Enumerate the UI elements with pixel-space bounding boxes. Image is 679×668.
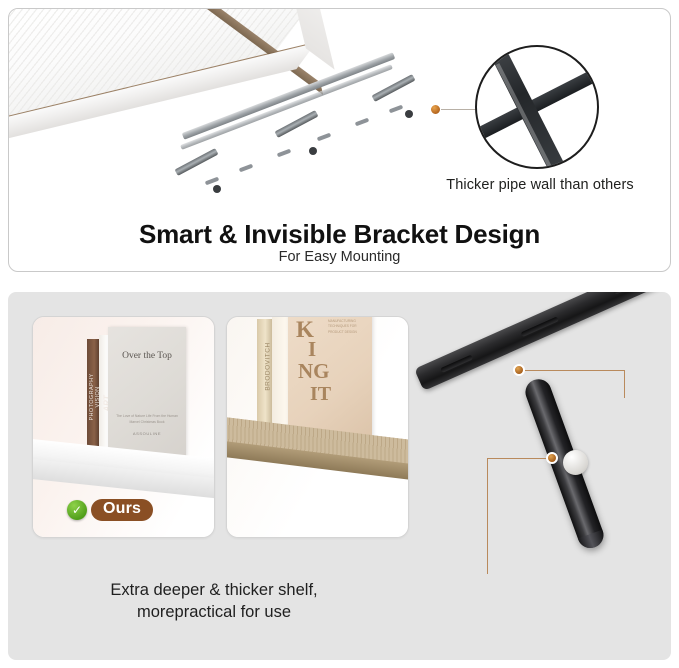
ours-book-brand: ASSOULINE bbox=[108, 431, 186, 436]
bracket-slot bbox=[317, 133, 332, 142]
bracket-flat-slot bbox=[613, 292, 652, 295]
iron-marker-dot-icon bbox=[513, 364, 525, 376]
others-book-title-ng: NG bbox=[298, 359, 330, 384]
bracket-slot bbox=[239, 164, 254, 173]
ours-book-spine-brown: PHOTOGRAPHY VISION bbox=[87, 339, 99, 457]
bracket-flat-slot bbox=[440, 355, 473, 373]
page-title: Smart & Invisible Bracket Design bbox=[9, 219, 670, 250]
top-feature-panel: Thicker pipe wall than others Smart & In… bbox=[8, 8, 671, 272]
others-book-fine-print: MANUFACTURING TECHNIQUES FOR PRODUCT DES… bbox=[328, 319, 370, 335]
bracket-crossbar bbox=[275, 110, 319, 138]
bracket-flat-bar bbox=[414, 292, 671, 391]
rubber-callout-line-horizontal bbox=[487, 458, 549, 459]
comparison-caption: Extra deeper & thicker shelf, morepracti… bbox=[14, 580, 414, 624]
rubber-marker-dot-icon bbox=[546, 452, 558, 464]
others-spine-text: BRODOVITCH bbox=[265, 332, 272, 402]
comparison-caption-line2: morepractical for use bbox=[14, 602, 414, 624]
bracket-slot bbox=[355, 118, 370, 127]
page-subtitle: For Easy Mounting bbox=[9, 249, 670, 265]
bracket-flat-slot bbox=[521, 316, 560, 337]
ours-book-cover: Over the Top The Love of Nature Life Fro… bbox=[108, 327, 186, 457]
t-bracket-illustration bbox=[403, 292, 671, 588]
iron-callout-line-vertical bbox=[624, 370, 625, 398]
pipe-vertical-detail bbox=[481, 45, 573, 169]
rubber-stopper bbox=[563, 450, 588, 475]
others-book-title-it: IT bbox=[310, 383, 331, 406]
shelf-illustration bbox=[9, 9, 439, 219]
iron-callout-line-horizontal bbox=[525, 370, 625, 371]
bottom-comparison-panel: PHOTOGRAPHY VISION ART Over the Top The … bbox=[8, 292, 671, 660]
badge-ours: ✓ Ours bbox=[67, 499, 153, 521]
bracket-slot bbox=[389, 105, 404, 114]
bracket-pipe-end-cap bbox=[578, 530, 607, 552]
infographic-page: Thicker pipe wall than others Smart & In… bbox=[0, 0, 679, 668]
ours-book-spine-white: ART bbox=[99, 335, 108, 457]
magnifier-detail-circle bbox=[475, 45, 599, 169]
comparison-card-others: BRODOVITCH MANUFACTURING TECHNIQUES FOR … bbox=[226, 316, 409, 538]
ours-book-subtitle: The Love of Nature Life From the Human M… bbox=[116, 413, 178, 426]
others-book-spine-cream bbox=[272, 317, 288, 439]
bracket-screw-hole bbox=[213, 185, 221, 193]
comparison-card-ours: PHOTOGRAPHY VISION ART Over the Top The … bbox=[32, 316, 215, 538]
bracket-screw-hole bbox=[405, 110, 413, 118]
bracket-slot bbox=[277, 149, 292, 158]
comparison-caption-line1: Extra deeper & thicker shelf, bbox=[14, 580, 414, 602]
check-circle-icon: ✓ bbox=[67, 500, 87, 520]
bracket-screw-hole bbox=[309, 147, 317, 155]
others-book-cover: MANUFACTURING TECHNIQUES FOR PRODUCT DES… bbox=[288, 316, 372, 441]
badge-ours-label: Ours bbox=[91, 499, 153, 521]
thicker-pipe-note: Thicker pipe wall than others bbox=[415, 177, 665, 193]
metal-bracket bbox=[177, 87, 417, 205]
bracket-crossbar bbox=[175, 148, 219, 176]
ours-book-title: Over the Top bbox=[108, 351, 186, 361]
rubber-callout-line-vertical bbox=[487, 458, 488, 574]
